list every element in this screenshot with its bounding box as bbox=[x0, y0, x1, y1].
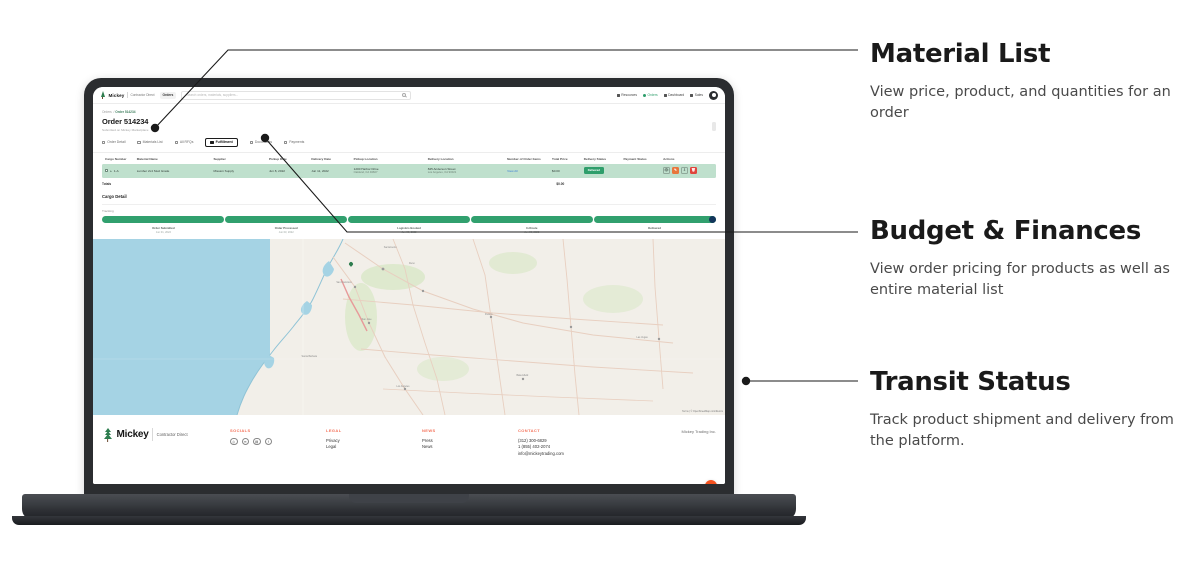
col-number-of-items: Number of Order Items bbox=[507, 157, 552, 161]
tab-label: Payments bbox=[289, 140, 304, 144]
footer-copyright: Mickey Trading Inc. bbox=[682, 428, 716, 434]
footer-link-legal[interactable]: Legal bbox=[326, 444, 422, 451]
tab-label: Documents bbox=[255, 140, 272, 144]
view-items-link[interactable]: View All bbox=[507, 169, 518, 173]
status-badge: Delivered bbox=[584, 167, 604, 174]
app-page: Orders / Order 514234 Order 514234 Submi… bbox=[93, 104, 725, 484]
callout-material-list: Material List View price, product, and q… bbox=[870, 40, 1190, 124]
step-date: Jun 09, 2022 bbox=[470, 231, 593, 234]
tracking-step: Delivered bbox=[593, 226, 716, 234]
view-icon[interactable]: 👁 bbox=[663, 167, 670, 174]
tracking-card: Tracking Order Submitted bbox=[102, 204, 716, 234]
footer-brand-tagline: Contractor Direct bbox=[157, 432, 188, 437]
footer-col-socials: SOCIALS ◎ ⇛ ▤ f bbox=[230, 428, 326, 446]
map-coastline bbox=[93, 239, 725, 415]
tab-label: All RFQs bbox=[180, 140, 194, 144]
page-header: Orders / Order 514234 Order 514234 Submi… bbox=[93, 104, 725, 132]
chevron-down-icon bbox=[690, 94, 693, 97]
truck-icon bbox=[210, 141, 213, 144]
row-checkbox[interactable] bbox=[105, 169, 108, 172]
brand-tagline: Contractor Direct bbox=[130, 93, 154, 97]
footer-heading: LEGAL bbox=[326, 428, 422, 433]
cell-number-of-items[interactable]: View All bbox=[507, 169, 552, 173]
footer-heading: CONTACT bbox=[518, 428, 668, 433]
map-label: San Francisco bbox=[336, 281, 351, 284]
tracking-step: Order Processed Jun 03, 2022 bbox=[225, 226, 348, 234]
cell-pickup-date: Jun 8, 2022 bbox=[269, 169, 311, 173]
progress-segment bbox=[471, 216, 593, 224]
expand-chevron-icon[interactable]: ▸ bbox=[110, 169, 112, 173]
map-label: Los Angeles bbox=[396, 385, 409, 388]
col-cargo-number: Cargo Number bbox=[102, 157, 137, 161]
footer-brand-divider bbox=[152, 428, 153, 441]
footer-social-links: ◎ ⇛ ▤ f bbox=[230, 438, 326, 446]
footer-email[interactable]: info@mickeytrading.com bbox=[518, 451, 668, 458]
footer-heading: SOCIALS bbox=[230, 428, 326, 433]
tab-label: Fulfillment bbox=[216, 140, 233, 144]
twitter-icon[interactable]: ⇛ bbox=[242, 438, 250, 446]
map-label: Sacramento bbox=[384, 246, 397, 249]
tree-logo-icon bbox=[102, 428, 113, 442]
tab-materials-list[interactable]: Materials List bbox=[137, 140, 162, 144]
breadcrumb-root[interactable]: Orders bbox=[102, 110, 112, 114]
map-label: Las Vegas bbox=[637, 336, 648, 339]
progress-segment bbox=[102, 216, 224, 224]
cargo-number-value: 1-A bbox=[114, 169, 119, 173]
breadcrumb-current: Order 514234 bbox=[115, 110, 135, 114]
support-chat-button[interactable] bbox=[705, 480, 717, 484]
col-total-price: Total Price bbox=[552, 157, 584, 161]
progress-current-marker bbox=[709, 216, 717, 224]
footer-heading: NEWS bbox=[422, 428, 518, 433]
tracking-label: Tracking bbox=[102, 209, 716, 213]
callout-budget-finances: Budget & Finances View order pricing for… bbox=[870, 217, 1190, 301]
fulfillment-table: Cargo Number Material Name Supplier Pick… bbox=[93, 153, 725, 186]
progress-segment bbox=[348, 216, 470, 224]
callout-title: Transit Status bbox=[870, 368, 1190, 397]
nav-item-dashboard[interactable]: Dashboard bbox=[664, 93, 685, 97]
nav-label: Resources bbox=[621, 93, 637, 97]
laptop-screen: Mickey Contractor Direct Orders Search o… bbox=[93, 87, 725, 484]
callout-body: View price, product, and quantities for … bbox=[870, 82, 1190, 124]
orders-icon bbox=[643, 94, 646, 97]
nav-item-sales[interactable]: Sales bbox=[690, 93, 703, 97]
col-supplier: Supplier bbox=[213, 157, 269, 161]
step-name: In Route bbox=[470, 226, 593, 230]
download-icon[interactable]: ⇩ bbox=[681, 167, 688, 174]
map-label: Reno bbox=[409, 262, 415, 265]
list-icon bbox=[137, 141, 140, 144]
panel-collapse-handle[interactable] bbox=[712, 122, 716, 131]
tab-fulfillment[interactable]: Fulfillment bbox=[205, 138, 237, 147]
step-name: Order Submitted bbox=[102, 226, 225, 230]
cell-total-price: $0.00 bbox=[552, 169, 584, 173]
col-pickup-location: Pickup Location bbox=[354, 157, 428, 161]
app-footer: Mickey Contractor Direct SOCIALS ◎ ⇛ ▤ f bbox=[93, 415, 725, 466]
delivery-city: Los Angeles, CA 90021 bbox=[428, 171, 507, 175]
cell-cargo-number[interactable]: ▸ 1-A bbox=[102, 169, 137, 173]
facebook-icon[interactable]: f bbox=[265, 438, 273, 446]
step-name: Order Processed bbox=[225, 226, 348, 230]
col-delivery-location: Delivery Location bbox=[428, 157, 507, 161]
table-totals-row: Totals $0.00 bbox=[102, 178, 716, 186]
step-name: Logistics Booked bbox=[348, 226, 471, 230]
cell-actions: 👁 ✎ ⇩ 🗑 bbox=[663, 167, 716, 174]
tab-all-rfqs[interactable]: All RFQs bbox=[175, 140, 194, 144]
tree-logo-icon bbox=[100, 91, 106, 99]
step-date: Jun 01, 2022 bbox=[102, 231, 225, 234]
page-tabs: Order Detail Materials List All RFQs bbox=[93, 132, 725, 153]
callout-body: View order pricing for products as well … bbox=[870, 259, 1190, 301]
laptop-mockup: Mickey Contractor Direct Orders Search o… bbox=[84, 78, 734, 533]
tab-label: Materials List bbox=[143, 140, 163, 144]
search-input[interactable]: Search orders, materials, suppliers... bbox=[181, 91, 411, 100]
card-icon bbox=[284, 141, 287, 144]
tab-payments[interactable]: Payments bbox=[284, 140, 304, 144]
shipment-map[interactable]: Sacramento San Francisco San Jose Fresno… bbox=[93, 239, 725, 415]
nav-label: Sales bbox=[695, 93, 703, 97]
tab-documents[interactable]: Documents bbox=[250, 140, 272, 144]
cell-delivery-status: Delivered bbox=[584, 167, 624, 174]
footer-brand-name: Mickey bbox=[117, 429, 149, 440]
map-label: Santa Barbara bbox=[302, 355, 317, 358]
nav-orders-pill[interactable]: Orders bbox=[160, 92, 177, 99]
progress-segment bbox=[225, 216, 347, 224]
laptop-lid: Mickey Contractor Direct Orders Search o… bbox=[84, 78, 734, 498]
col-delivery-status: Delivery Status bbox=[584, 157, 624, 161]
nav-item-resources[interactable]: Resources bbox=[617, 93, 637, 97]
instagram-icon[interactable]: ◎ bbox=[230, 438, 238, 446]
delete-icon[interactable]: 🗑 bbox=[690, 167, 697, 174]
col-pickup-date: Pickup Date bbox=[269, 157, 311, 161]
search-placeholder: Search orders, materials, suppliers... bbox=[186, 93, 402, 97]
tracking-steps: Order Submitted Jun 01, 2022 Order Proce… bbox=[102, 226, 716, 234]
avatar[interactable] bbox=[709, 91, 718, 100]
resources-icon bbox=[617, 94, 620, 97]
linkedin-icon[interactable]: ▤ bbox=[253, 438, 261, 446]
search-icon[interactable] bbox=[402, 93, 406, 97]
map-label: Fresno bbox=[485, 313, 492, 316]
map-pin-pickup[interactable] bbox=[349, 262, 353, 267]
map-label: San Jose bbox=[362, 318, 372, 321]
nav-label: Orders bbox=[648, 93, 658, 97]
table-row[interactable]: ▸ 1-A Lumber 2x4 Stud Grade Mission Supp… bbox=[102, 164, 716, 178]
nav-label: Dashboard bbox=[668, 93, 684, 97]
footer-col-legal: LEGAL Privacy Legal bbox=[326, 428, 422, 451]
cell-delivery-location: 845 Anderson Street Los Angeles, CA 9002… bbox=[428, 167, 507, 175]
table-header-row: Cargo Number Material Name Supplier Pick… bbox=[102, 153, 716, 164]
tracking-step: Logistics Booked Jun 06, 2022 bbox=[348, 226, 471, 234]
edit-icon[interactable]: ✎ bbox=[672, 167, 679, 174]
footer-brand: Mickey Contractor Direct bbox=[102, 428, 230, 442]
doc-icon bbox=[102, 141, 105, 144]
cell-delivery-date: Jun 11, 2022 bbox=[311, 169, 353, 173]
col-material-name: Material Name bbox=[137, 157, 214, 161]
tracking-step: In Route Jun 09, 2022 bbox=[470, 226, 593, 234]
brand-name: Mickey bbox=[109, 93, 125, 98]
folder-icon bbox=[250, 141, 253, 144]
map-label: Bakersfield bbox=[516, 374, 528, 377]
nav-item-orders[interactable]: Orders bbox=[643, 93, 658, 97]
cell-supplier: Mission Supply bbox=[213, 169, 269, 173]
cell-pickup-location: 1200 Harbor Drive Oakland, CA 94607 bbox=[354, 167, 428, 175]
tracking-step: Order Submitted Jun 01, 2022 bbox=[102, 226, 225, 234]
footer-col-contact: CONTACT (312) 300-6829 1 (855) 402-2074 … bbox=[518, 428, 668, 458]
tracking-progress-bar bbox=[102, 216, 716, 224]
app-brand[interactable]: Mickey Contractor Direct bbox=[100, 91, 155, 99]
dashboard-icon bbox=[664, 94, 667, 97]
step-name: Delivered bbox=[593, 226, 716, 230]
topnav-right-group: Resources Orders Dashboard Sales bbox=[617, 91, 718, 100]
col-delivery-date: Delivery Date bbox=[311, 157, 353, 161]
cargo-detail-heading: Cargo Detail bbox=[93, 186, 725, 199]
callout-title: Budget & Finances bbox=[870, 217, 1190, 246]
step-date: Jun 06, 2022 bbox=[348, 231, 471, 234]
map-attribution[interactable]: Terms | © OpenStreetMap contributors bbox=[682, 410, 723, 413]
app-topnav: Mickey Contractor Direct Orders Search o… bbox=[93, 87, 725, 104]
rfq-icon bbox=[175, 141, 178, 144]
progress-segment bbox=[594, 216, 716, 224]
footer-col-news: NEWS Press News bbox=[422, 428, 518, 451]
tab-order-detail[interactable]: Order Detail bbox=[102, 140, 125, 144]
footer-link-news[interactable]: News bbox=[422, 444, 518, 451]
callout-body: Track product shipment and delivery from… bbox=[870, 410, 1190, 452]
tab-label: Order Detail bbox=[107, 140, 125, 144]
laptop-base-foot bbox=[12, 516, 806, 525]
brand-divider bbox=[127, 92, 128, 98]
callout-title: Material List bbox=[870, 40, 1190, 69]
screenshot-stage: Material List View price, product, and q… bbox=[0, 0, 1200, 581]
col-actions: Actions bbox=[663, 157, 716, 161]
cell-material-name: Lumber 2x4 Stud Grade bbox=[137, 169, 214, 173]
breadcrumb[interactable]: Orders / Order 514234 bbox=[102, 110, 716, 114]
pickup-city: Oakland, CA 94607 bbox=[354, 171, 428, 175]
page-title: Order 514234 bbox=[102, 117, 716, 126]
callout-transit-status: Transit Status Track product shipment an… bbox=[870, 368, 1190, 452]
col-payment-status: Payment Status bbox=[623, 157, 663, 161]
step-date: Jun 03, 2022 bbox=[225, 231, 348, 234]
